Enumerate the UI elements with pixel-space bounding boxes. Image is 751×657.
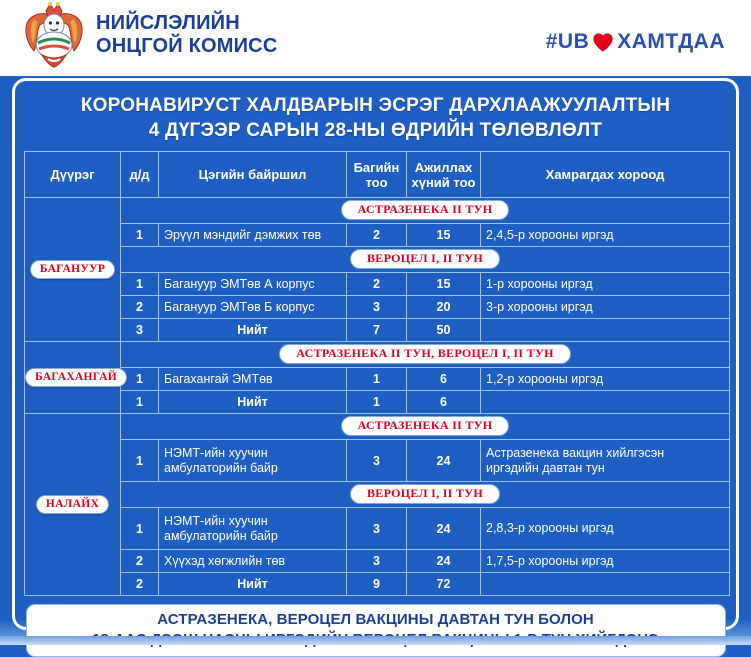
table-row: 2 Багануур ЭМТөв Б корпус 3 20 3-р хороо… xyxy=(25,296,730,319)
table-row-total: 2 Нийт 9 72 xyxy=(25,573,730,596)
row-khoroo xyxy=(481,573,730,596)
heart-icon xyxy=(592,32,614,53)
banner-row: ВЕРОЦЕЛ I, II ТУН xyxy=(25,247,730,273)
row-no: 1 xyxy=(121,391,159,414)
header-no: д/д xyxy=(121,152,159,198)
row-place: Багануур ЭМТөв А корпус xyxy=(159,273,347,296)
row-khoroo: 1,2-р хорооны иргэд xyxy=(481,368,730,391)
vaccine-banner-label: АСТРАЗЕНЕКА II ТУН xyxy=(341,416,510,436)
row-teams: 3 xyxy=(347,440,407,482)
district-badge: НАЛАЙХ xyxy=(36,495,109,514)
row-khoroo: 1,7,5-р хорооны иргэд xyxy=(481,550,730,573)
row-no: 1 xyxy=(121,224,159,247)
page-title: КОРОНАВИРУСТ ХАЛДВАРЫН ЭСРЭГ ДАРХЛААЖУУЛ… xyxy=(24,89,727,149)
row-teams: 3 xyxy=(347,296,407,319)
ub-khamtdaa-badge: #UB ХАМТДАА xyxy=(536,28,735,56)
banner-row: ВЕРОЦЕЛ I, II ТУН xyxy=(25,482,730,508)
row-place: Багануур ЭМТөв Б корпус xyxy=(159,296,347,319)
table-row: 1 НЭМТ-ийн хуучин амбулаторийн байр 3 24… xyxy=(25,508,730,550)
row-khoroo: 1-р хорооны иргэд xyxy=(481,273,730,296)
row-place: Нийт xyxy=(159,573,347,596)
row-staff: 6 xyxy=(407,391,481,414)
table-row-total: 3 Нийт 7 50 xyxy=(25,319,730,342)
page-title-line1: КОРОНАВИРУСТ ХАЛДВАРЫН ЭСРЭГ ДАРХЛААЖУУЛ… xyxy=(81,95,670,116)
table-row: 1 Эрүүл мэндийг дэмжих төв 2 15 2,4,5-р … xyxy=(25,224,730,247)
row-teams: 3 xyxy=(347,508,407,550)
row-khoroo-line2: иргэдийн давтан тун xyxy=(486,461,605,475)
vaccine-banner-cell: АСТРАЗЕНЕКА II ТУН, ВЕРОЦЕЛ I, II ТУН xyxy=(121,342,730,368)
district-badge: БАГАХАНГАЙ xyxy=(25,368,127,387)
table-row-total: 1 Нийт 1 6 xyxy=(25,391,730,414)
header-teams-line2: тоо xyxy=(365,175,387,190)
row-teams: 7 xyxy=(347,319,407,342)
vaccine-banner-cell: ВЕРОЦЕЛ I, II ТУН xyxy=(121,247,730,273)
header-place: Цэгийн байршил xyxy=(159,152,347,198)
row-place-line1: НЭМТ-ийн хуучин xyxy=(164,514,268,528)
row-teams: 1 xyxy=(347,391,407,414)
table-header-row: Дүүрэг д/д Цэгийн байршил Багийн тоо Ажи… xyxy=(25,152,730,198)
page-title-line2: 4 ДҮГЭЭР САРЫН 28-НЫ ӨДРИЙН ТӨЛӨВЛӨЛТ xyxy=(30,118,721,143)
organization-title: НИЙСЛЭЛИЙН ОНЦГОЙ КОМИСС xyxy=(96,12,277,58)
vaccine-banner-cell: ВЕРОЦЕЛ I, II ТУН xyxy=(121,482,730,508)
row-no: 1 xyxy=(121,508,159,550)
org-title-line2: ОНЦГОЙ КОМИСС xyxy=(96,35,277,58)
row-no: 1 xyxy=(121,273,159,296)
ulaanbaatar-city-emblem-icon xyxy=(22,1,86,69)
badge-hashtag-ub: #UB xyxy=(546,30,590,54)
header-teams-line1: Багийн xyxy=(354,160,400,175)
row-place: НЭМТ-ийн хуучин амбулаторийн байр xyxy=(159,440,347,482)
vaccination-plan-table: Дүүрэг д/д Цэгийн байршил Багийн тоо Ажи… xyxy=(24,151,730,596)
org-title-line1: НИЙСЛЭЛИЙН xyxy=(96,12,240,34)
row-staff: 20 xyxy=(407,296,481,319)
row-khoroo: 2,4,5-р хорооны иргэд xyxy=(481,224,730,247)
table-row: 1 Багахангай ЭМТөв 1 6 1,2-р хорооны ирг… xyxy=(25,368,730,391)
row-place: Эрүүл мэндийг дэмжих төв xyxy=(159,224,347,247)
row-place: НЭМТ-ийн хуучин амбулаторийн байр xyxy=(159,508,347,550)
row-teams: 2 xyxy=(347,224,407,247)
row-staff: 6 xyxy=(407,368,481,391)
row-staff: 15 xyxy=(407,224,481,247)
vaccine-banner-label: АСТРАЗЕНЕКА II ТУН xyxy=(341,200,510,220)
row-staff: 72 xyxy=(407,573,481,596)
row-no: 2 xyxy=(121,550,159,573)
table-row: 2 Хүүхэд хөгжлийн төв 3 24 1,7,5-р хороо… xyxy=(25,550,730,573)
row-staff: 50 xyxy=(407,319,481,342)
badge-khamtdaa-text: ХАМТДАА xyxy=(617,30,725,54)
header-teams: Багийн тоо xyxy=(347,152,407,198)
banner-row: НАЛАЙХ АСТРАЗЕНЕКА II ТУН xyxy=(25,414,730,440)
header-district: Дүүрэг xyxy=(25,152,121,198)
vaccine-banner-label: АСТРАЗЕНЕКА II ТУН, ВЕРОЦЕЛ I, II ТУН xyxy=(279,344,570,364)
row-place: Нийт xyxy=(159,391,347,414)
row-khoroo: 3-р хорооны иргэд xyxy=(481,296,730,319)
header-khoroo: Хамрагдах хороод xyxy=(481,152,730,198)
row-khoroo-line1: Астразенека вакцин хийлгэсэн xyxy=(486,446,664,460)
row-staff: 24 xyxy=(407,550,481,573)
vaccine-banner-cell: АСТРАЗЕНЕКА II ТУН xyxy=(121,198,730,224)
row-no: 1 xyxy=(121,440,159,482)
row-teams: 1 xyxy=(347,368,407,391)
row-khoroo: Астразенека вакцин хийлгэсэн иргэдийн да… xyxy=(481,440,730,482)
row-place: Нийт xyxy=(159,319,347,342)
content-frame: КОРОНАВИРУСТ ХАЛДВАРЫН ЭСРЭГ ДАРХЛААЖУУЛ… xyxy=(12,78,739,630)
banner-row: БАГАХАНГАЙ АСТРАЗЕНЕКА II ТУН, ВЕРОЦЕЛ I… xyxy=(25,342,730,368)
row-no: 2 xyxy=(121,296,159,319)
row-teams: 3 xyxy=(347,550,407,573)
row-khoroo: 2,8,3-р хорооны иргэд xyxy=(481,508,730,550)
poster-root: НИЙСЛЭЛИЙН ОНЦГОЙ КОМИСС #UB ХАМТДАА КОР… xyxy=(0,0,751,645)
header-band: НИЙСЛЭЛИЙН ОНЦГОЙ КОМИСС #UB ХАМТДАА xyxy=(0,0,751,70)
banner-row: БАГАНУУР АСТРАЗЕНЕКА II ТУН xyxy=(25,198,730,224)
row-place-line2: амбулаторийн байр xyxy=(164,461,278,475)
table-row: 1 НЭМТ-ийн хуучин амбулаторийн байр 3 24… xyxy=(25,440,730,482)
row-staff: 24 xyxy=(407,508,481,550)
header-staff: Ажиллах хүний тоо xyxy=(407,152,481,198)
vaccine-banner-cell: АСТРАЗЕНЕКА II ТУН xyxy=(121,414,730,440)
table-row: 1 Багануур ЭМТөв А корпус 2 15 1-р хороо… xyxy=(25,273,730,296)
row-no: 3 xyxy=(121,319,159,342)
row-khoroo xyxy=(481,319,730,342)
row-place: Хүүхэд хөгжлийн төв xyxy=(159,550,347,573)
footer-line1: АСТРАЗЕНЕКА, ВЕРОЦЕЛ ВАКЦИНЫ ДАВТАН ТУН … xyxy=(157,611,594,628)
footer-notice-banner: АСТРАЗЕНЕКА, ВЕРОЦЕЛ ВАКЦИНЫ ДАВТАН ТУН … xyxy=(26,604,726,657)
row-teams: 9 xyxy=(347,573,407,596)
bottom-accent-strip xyxy=(0,636,751,645)
header-staff-line2: хүний тоо xyxy=(412,175,476,190)
district-cell-baganuur: БАГАНУУР xyxy=(25,198,121,342)
row-no: 2 xyxy=(121,573,159,596)
district-cell-nalaikh: НАЛАЙХ xyxy=(25,414,121,596)
row-place-line2: амбулаторийн байр xyxy=(164,529,278,543)
row-place: Багахангай ЭМТөв xyxy=(159,368,347,391)
vaccine-banner-label: ВЕРОЦЕЛ I, II ТУН xyxy=(350,249,500,269)
row-place-line1: НЭМТ-ийн хуучин xyxy=(164,446,268,460)
district-cell-bagakhangai: БАГАХАНГАЙ xyxy=(25,342,121,414)
row-staff: 15 xyxy=(407,273,481,296)
district-badge: БАГАНУУР xyxy=(30,260,115,279)
row-teams: 2 xyxy=(347,273,407,296)
vaccine-banner-label: ВЕРОЦЕЛ I, II ТУН xyxy=(350,484,500,504)
row-khoroo xyxy=(481,391,730,414)
row-staff: 24 xyxy=(407,440,481,482)
header-staff-line1: Ажиллах xyxy=(415,160,473,175)
